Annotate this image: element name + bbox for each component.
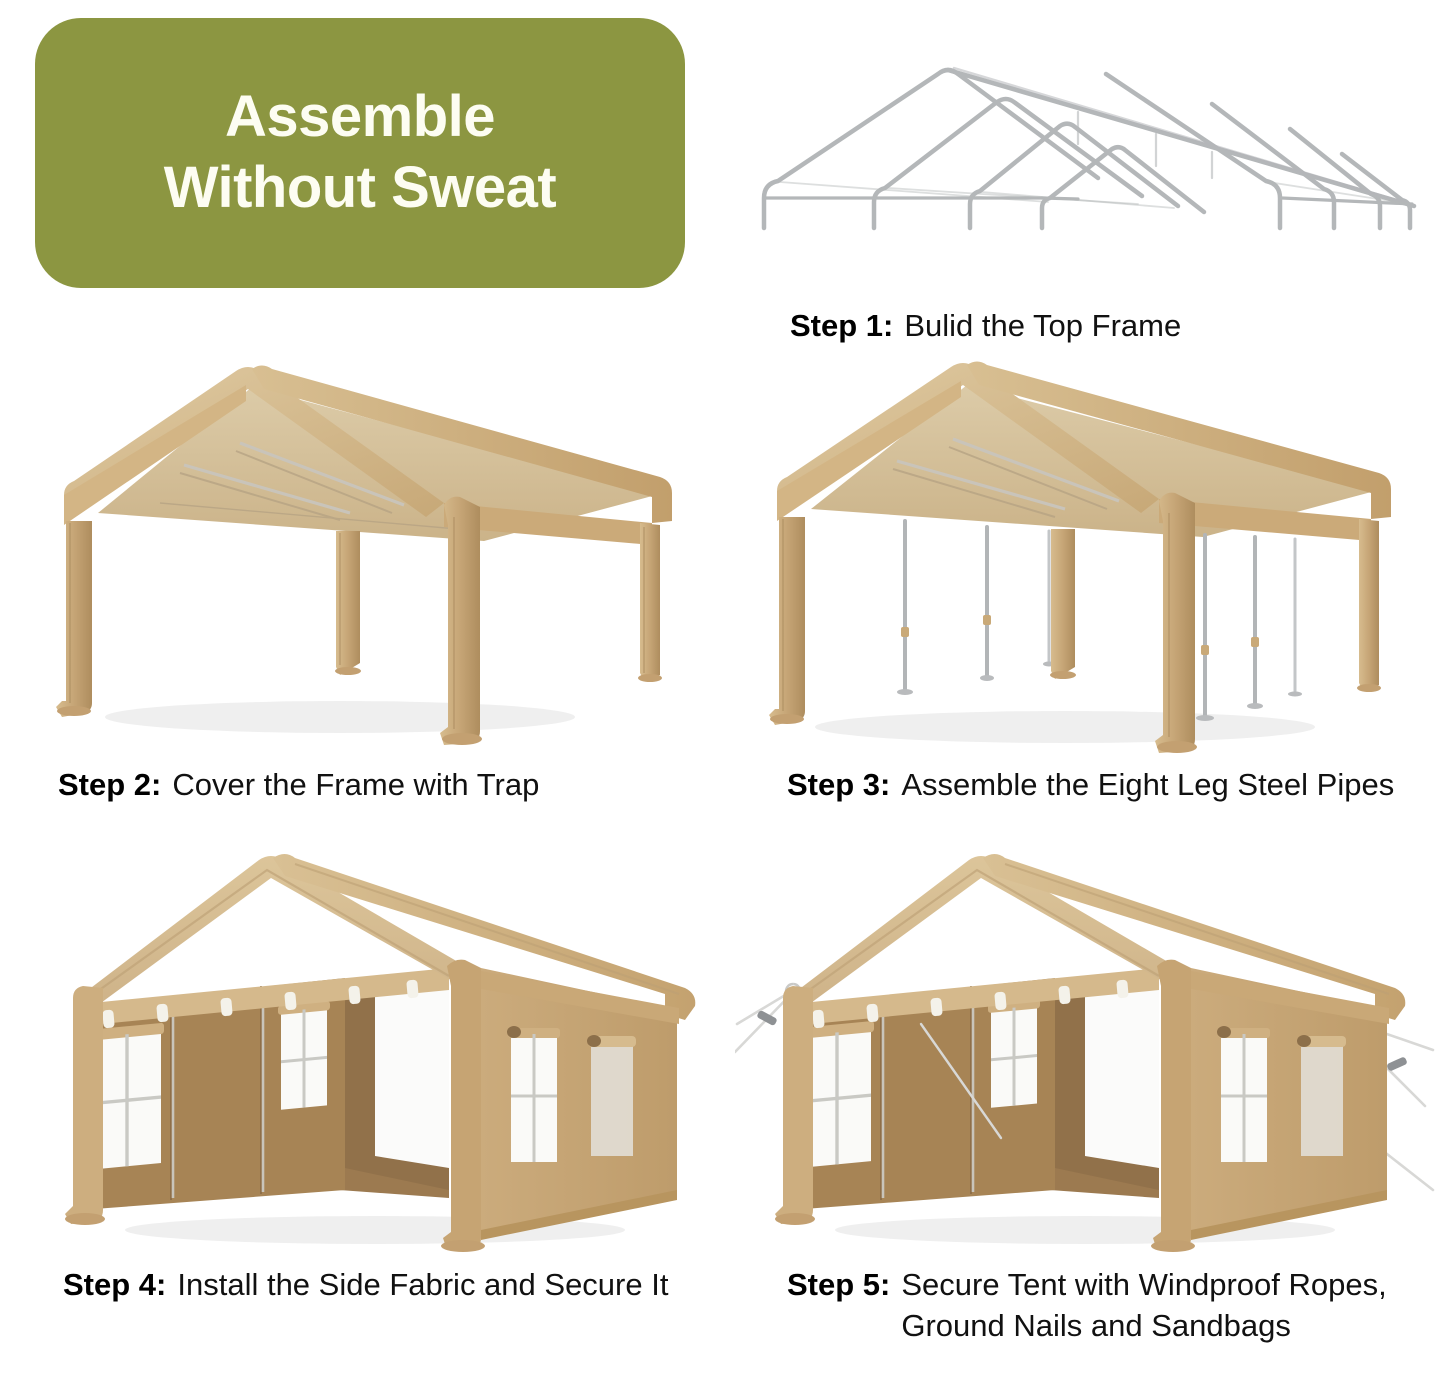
headline-banner: Assemble Without Sweat xyxy=(35,18,685,288)
step-5-label: Step 5: xyxy=(787,1265,901,1306)
canopy-with-legs-illustration xyxy=(735,345,1435,755)
step-3-label: Step 3: xyxy=(787,765,901,806)
step-3-caption: Step 3: Assemble the Eight Leg Steel Pip… xyxy=(735,765,1435,806)
step-4-text: Install the Side Fabric and Secure It xyxy=(177,1265,705,1306)
step-1-caption: Step 1: Bulid the Top Frame xyxy=(742,306,1432,347)
step-1-cell: Step 1: Bulid the Top Frame xyxy=(742,16,1432,347)
step-3-cell: Step 3: Assemble the Eight Leg Steel Pip… xyxy=(735,345,1435,806)
top-frame-illustration xyxy=(742,16,1432,266)
enclosed-carport-illustration xyxy=(45,838,705,1253)
step-2-text: Cover the Frame with Trap xyxy=(172,765,700,806)
step-5-text: Secure Tent with Windproof Ropes, Ground… xyxy=(901,1265,1435,1347)
step-5-caption: Step 5: Secure Tent with Windproof Ropes… xyxy=(735,1265,1435,1347)
step-1-label: Step 1: xyxy=(790,306,904,347)
step-4-caption: Step 4: Install the Side Fabric and Secu… xyxy=(45,1265,705,1306)
step-3-text: Assemble the Eight Leg Steel Pipes xyxy=(901,765,1435,806)
step-1-text: Bulid the Top Frame xyxy=(904,306,1432,347)
canopy-covered-illustration xyxy=(40,345,700,755)
step-2-caption: Step 2: Cover the Frame with Trap xyxy=(40,765,700,806)
headline-text: Assemble Without Sweat xyxy=(164,82,557,224)
step-2-cell: Step 2: Cover the Frame with Trap xyxy=(40,345,700,806)
step-4-label: Step 4: xyxy=(63,1265,177,1306)
step-2-label: Step 2: xyxy=(58,765,172,806)
carport-with-guy-ropes-illustration xyxy=(735,838,1435,1253)
step-4-cell: Step 4: Install the Side Fabric and Secu… xyxy=(45,838,705,1306)
step-5-cell: Step 5: Secure Tent with Windproof Ropes… xyxy=(735,838,1435,1347)
